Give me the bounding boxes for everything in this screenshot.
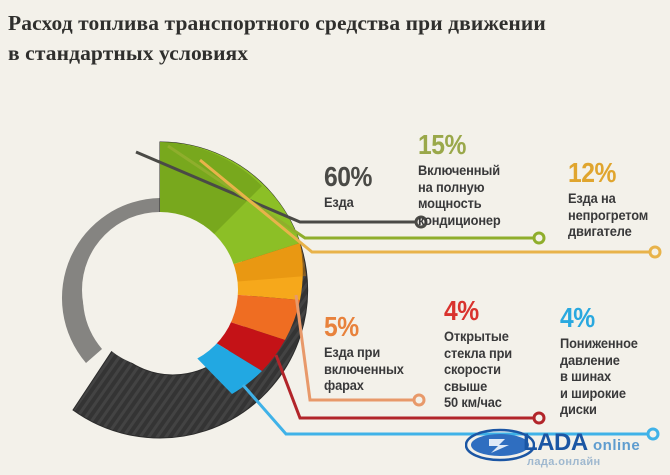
callout-stekla-desc: Открытые стекла при скорости свыше 50 км… [444, 329, 512, 412]
callout-davlenie: 4% Пониженное давление в шинах и широкие… [560, 303, 642, 419]
callout-neprogrety-pct: 12% [568, 158, 642, 188]
callout-neprogrety: 12% Езда на непрогретом двигателе [568, 158, 652, 241]
watermark-sub: лада.онлайн [527, 456, 601, 468]
callout-konditsioner-pct: 15% [418, 130, 495, 160]
callout-stekla-pct: 4% [444, 296, 507, 326]
callout-neprogrety-desc: Езда на непрогретом двигателе [568, 191, 648, 241]
watermark-brand: LADA [523, 429, 588, 457]
callout-fary-pct: 5% [324, 312, 398, 342]
watermark-suffix: online [593, 437, 640, 454]
infographic-root: Расход топлива транспортного средства пр… [0, 0, 670, 475]
callout-fary-desc: Езда при включенных фарах [324, 345, 404, 395]
connector-60 [136, 152, 426, 227]
callout-davlenie-desc: Пониженное давление в шинах и широкие ди… [560, 336, 638, 419]
callout-konditsioner: 15% Включенный на полную мощность кондиц… [418, 130, 505, 229]
callout-ezda: 60% Езда [324, 162, 379, 212]
callout-ezda-pct: 60% [324, 162, 372, 192]
callout-ezda-desc: Езда [324, 195, 376, 212]
watermark: LADA online лада.онлайн [465, 424, 665, 472]
callout-davlenie-pct: 4% [560, 303, 632, 333]
callout-konditsioner-desc: Включенный на полную мощность кондиционе… [418, 163, 501, 229]
callout-stekla: 4% Открытые стекла при скорости свыше 50… [444, 296, 516, 412]
callout-fary: 5% Езда при включенных фарах [324, 312, 408, 395]
